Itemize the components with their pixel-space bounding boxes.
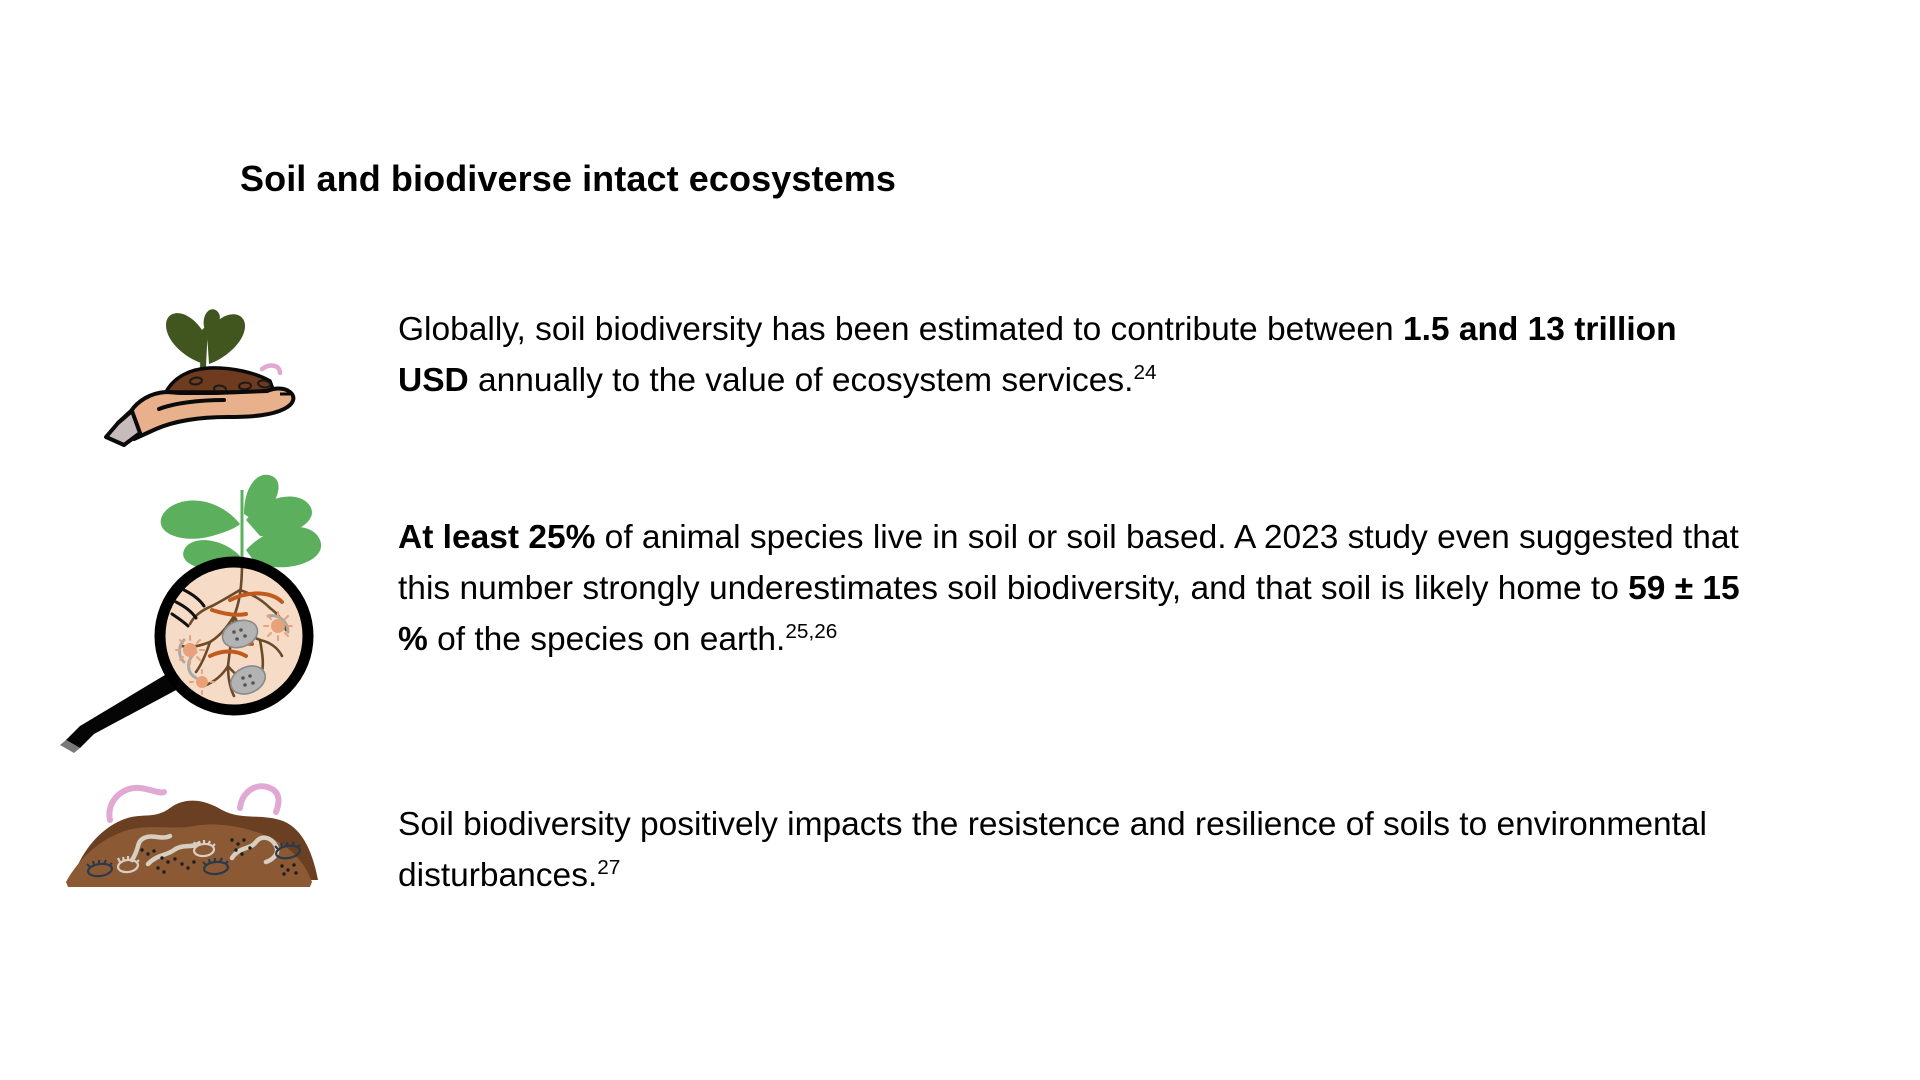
magnifying-glass-roots-illustration (44, 464, 330, 752)
paragraph-1-seg-0: Globally, soil biodiversity has been est… (398, 311, 1403, 348)
paragraph-2: At least 25% of animal species live in s… (398, 513, 1753, 666)
paragraph-1: Globally, soil biodiversity has been est… (398, 305, 1753, 407)
paragraph-2-seg-0-bold: At least 25% (398, 519, 595, 556)
paragraph-1-citation: 24 (1133, 361, 1156, 384)
paragraph-3: Soil biodiversity positively impacts the… (398, 800, 1753, 902)
soil-mound-illustration (44, 768, 332, 892)
page-title: Soil and biodiverse intact ecosystems (240, 157, 896, 200)
paragraph-2-citation: 25,26 (785, 620, 837, 643)
paragraph-3-citation: 27 (597, 856, 620, 879)
paragraph-1-seg-2: annually to the value of ecosystem servi… (469, 362, 1134, 399)
paragraph-3-seg-0: Soil biodiversity positively impacts the… (398, 806, 1707, 894)
hand-with-seedling-illustration (104, 289, 328, 445)
slide-canvas: Soil and biodiverse intact ecosystems (0, 0, 1920, 1080)
paragraph-2-seg-1: of animal species live in soil or soil b… (398, 519, 1739, 607)
paragraph-2-seg-3: of the species on earth. (428, 621, 786, 658)
